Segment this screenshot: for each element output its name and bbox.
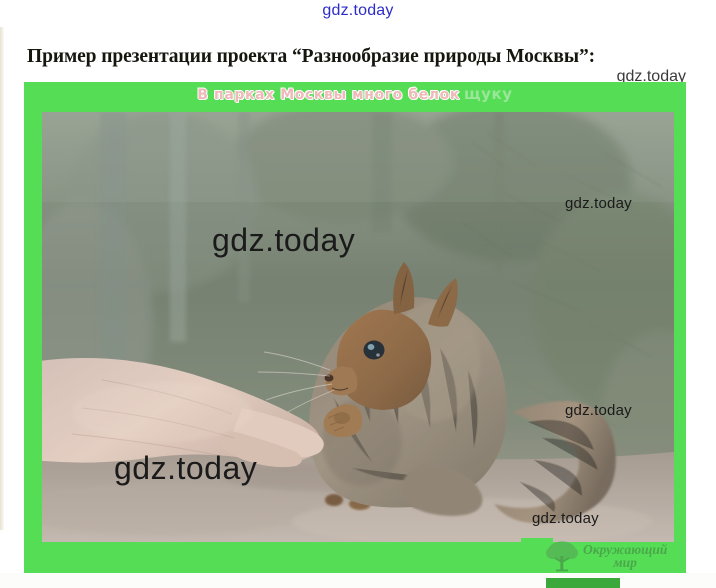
slide-banner-ghost-text: щуку [464,85,513,103]
page-title: Пример презентации проекта “Разнообразие… [27,46,687,68]
slide-banner: В парках Москвы много белокщуку [24,85,686,111]
page-left-edge [0,27,4,530]
logo-text: Окружающий мир [583,543,667,569]
slide-banner-text: В парках Москвы много белок [197,87,460,103]
presentation-slide: В парках Москвы много белокщуку [24,82,686,573]
bottom-green-bar [546,578,620,588]
slide-photo: gdz.today gdz.today gdz.today gdz.today … [42,112,674,542]
tree-icon [545,540,579,572]
squirrel-photo-illustration [42,112,674,542]
okruzhayushchiy-mir-logo: Окружающий мир [545,538,685,574]
logo-line-2: мир [583,556,667,569]
top-watermark: gdz.today [0,2,716,20]
